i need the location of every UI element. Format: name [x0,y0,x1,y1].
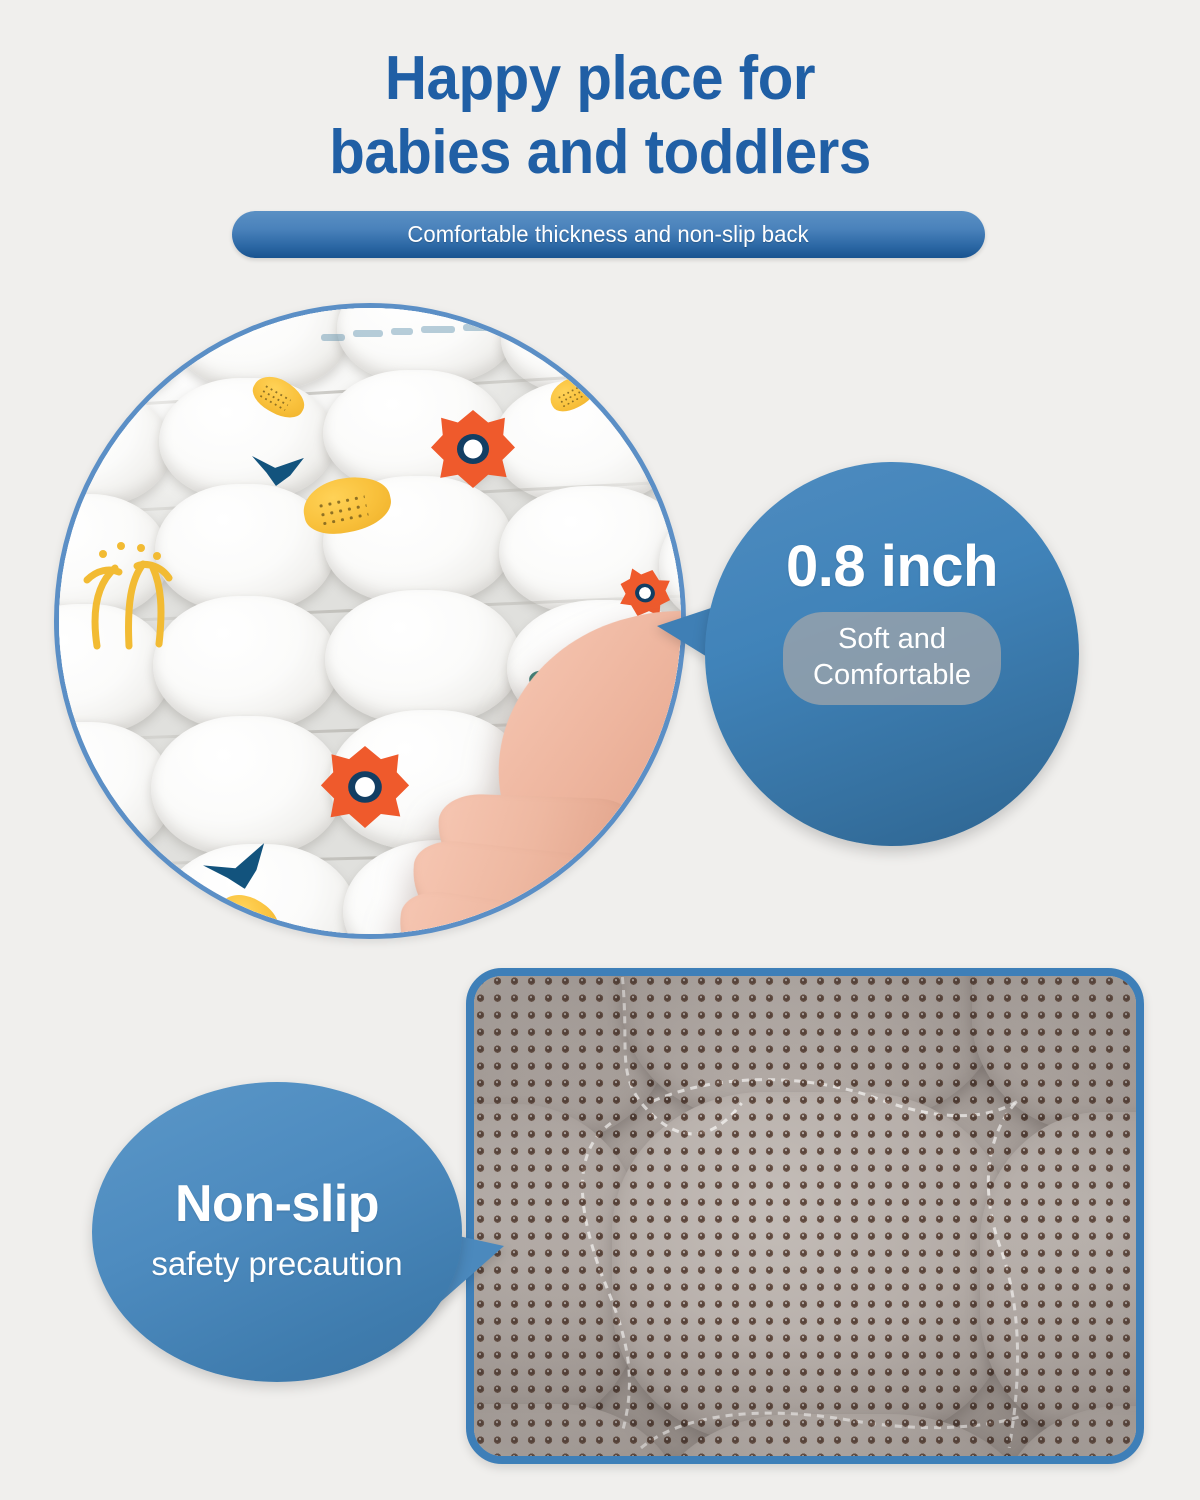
grip-scene [472,974,1138,1458]
print-sprout [69,534,189,652]
non-slip-back-photo [466,968,1144,1464]
thickness-note-line-1: Soft and [813,621,971,657]
non-slip-subtext: safety precaution [151,1245,402,1283]
thickness-value: 0.8 inch [786,536,998,598]
non-slip-callout-bubble: Non-slip safety precaution [92,1082,462,1382]
infographic-page: Happy place for babies and toddlers Comf… [0,0,1200,1500]
non-slip-title: Non-slip [175,1175,379,1233]
print-text-mark [317,318,537,362]
non-slip-bubble-body: Non-slip safety precaution [92,1082,462,1382]
page-title-line-2: babies and toddlers [36,116,1164,190]
thickness-bubble-body: 0.8 inch Soft and Comfortable [705,462,1079,846]
page-title: Happy place for babies and toddlers [36,42,1164,190]
thickness-note-line-2: Comfortable [813,657,971,693]
quilt-scene [55,304,685,938]
thickness-callout-bubble: 0.8 inch Soft and Comfortable [705,462,1079,846]
subtitle-text: Comfortable thickness and non-slip back [408,221,809,248]
subtitle-banner: Comfortable thickness and non-slip back [232,211,985,258]
page-title-line-1: Happy place for [36,42,1164,116]
grip-vignette [472,974,1138,1458]
thickness-note-pill: Soft and Comfortable [783,612,1001,705]
mattress-top-photo [54,303,686,939]
print-flower [431,410,515,488]
